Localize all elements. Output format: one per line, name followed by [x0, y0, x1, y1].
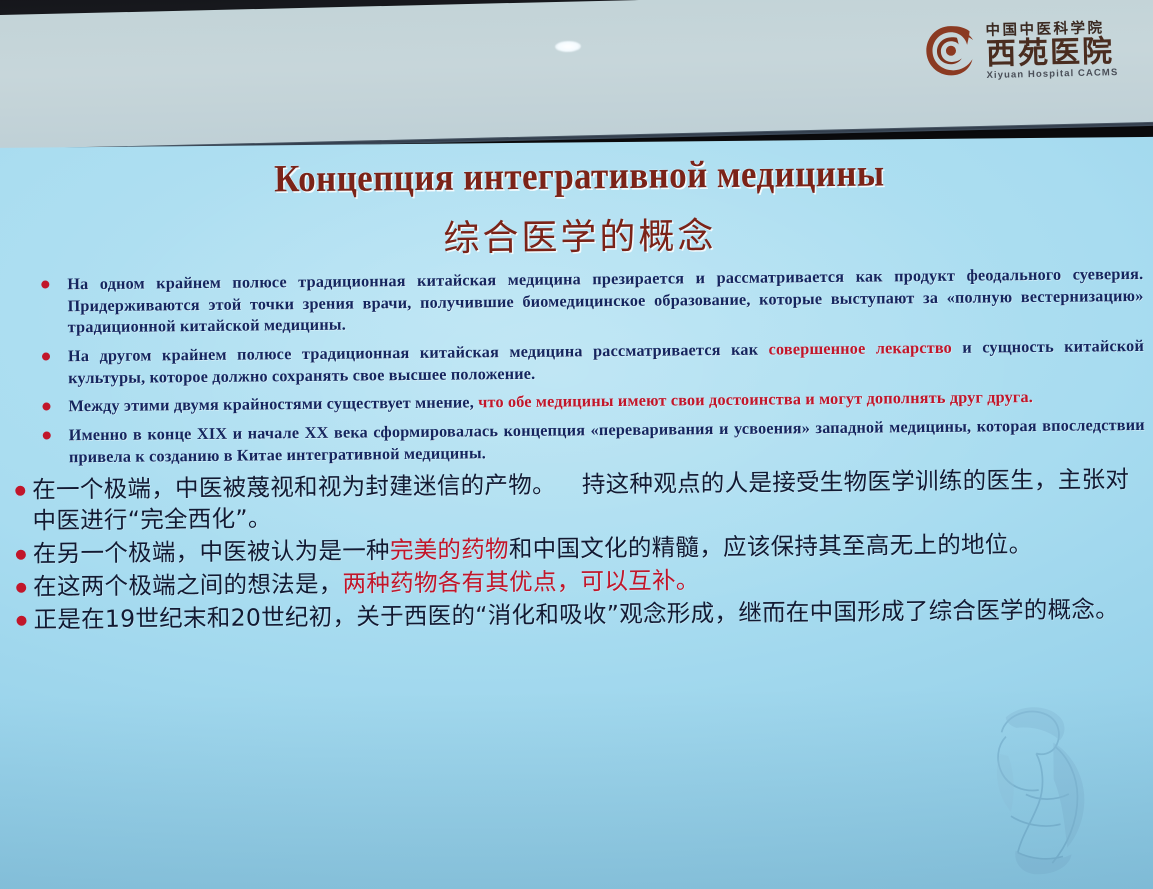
spiral-hand-logo-icon	[922, 22, 979, 84]
russian-text-segment: На другом крайнем полюсе традиционная ки…	[68, 340, 769, 366]
chinese-text-segment: 完美的药物	[390, 535, 509, 564]
russian-bullet-item: На одном крайнем полюсе традиционная кит…	[33, 263, 1144, 339]
hospital-logo: 中国中医科学院 西苑医院 Xiyuan Hospital CACMS	[922, 11, 1142, 92]
chinese-paragraph-block: 在一个极端，中医被蔑视和视为封建迷信的产物。持这种观点的人是接受生物医学训练的医…	[13, 464, 1152, 635]
logo-english-name: Xiyuan Hospital CACMS	[986, 68, 1118, 80]
russian-text-segment: Именно в конце XIX и начале XX века сфор…	[69, 415, 1145, 466]
chinese-text-segment: 在这两个极端之间的想法是，	[33, 569, 343, 600]
chinese-bullet-item: 在一个极端，中医被蔑视和视为封建迷信的产物。持这种观点的人是接受生物医学训练的医…	[15, 464, 1148, 536]
russian-bullet-item: Именно в конце XIX и начале XX века сфор…	[35, 414, 1145, 468]
russian-text-segment: совершенное лекарство	[769, 338, 952, 359]
chinese-text-segment: 在另一个极端，中医被认为是一种	[33, 536, 390, 567]
chinese-text-segment: 两种药物各有其优点，可以互补。	[342, 566, 699, 597]
projector-room-photo: 中国中医科学院 西苑医院 Xiyuan Hospital CACMS	[0, 0, 1153, 889]
chinese-text-segment: 在一个极端，中医被蔑视和视为封建迷信的产物。	[32, 471, 556, 504]
slide-content: Концепция интегративной медицины 综合医学的概念…	[0, 137, 1153, 635]
russian-text-segment: Между этими двумя крайностями существует…	[68, 393, 478, 416]
russian-bullet-item: На другом крайнем полюсе традиционная ки…	[34, 335, 1144, 389]
physician-watercolor-watermark-icon	[930, 688, 1147, 889]
russian-bullet-list: На одном крайнем полюсе традиционная кит…	[11, 263, 1151, 468]
logo-hospital-name: 西苑医院	[986, 37, 1115, 70]
russian-bullet-item: Между этими двумя крайностями существует…	[34, 385, 1144, 417]
slide-title-russian: Концепция интегративной медицины	[10, 149, 1148, 204]
slide-title-chinese: 综合医学的概念	[11, 203, 1149, 266]
projected-slide: Концепция интегративной медицины 综合医学的概念…	[0, 137, 1153, 889]
russian-text-segment: что обе медицины имеют свои достоинства …	[478, 387, 1033, 411]
chinese-text-segment: 和中国文化的精髓，应该保持其至高无上的地位。	[509, 530, 1033, 563]
russian-text-segment: На одном крайнем полюсе традиционная кит…	[67, 264, 1143, 337]
